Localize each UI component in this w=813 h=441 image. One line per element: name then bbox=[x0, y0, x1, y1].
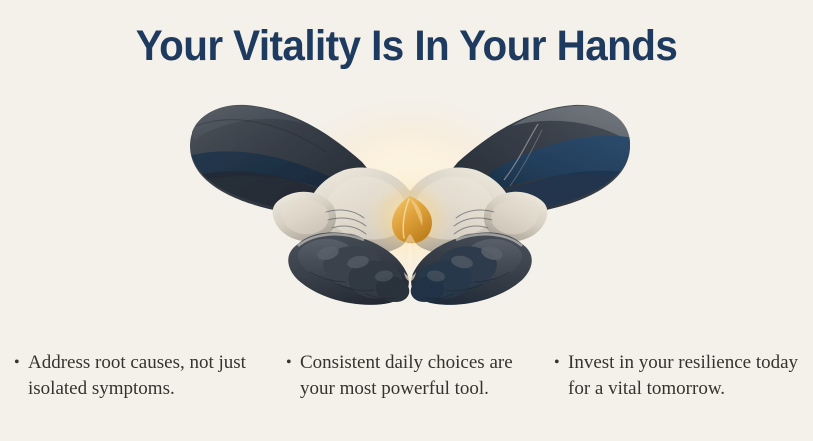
bullet-column-2: • Consistent daily choices are your most… bbox=[286, 350, 534, 401]
bullet-column-3: • Invest in your resilience today for a … bbox=[554, 350, 804, 401]
page-title: Your Vitality Is In Your Hands bbox=[24, 19, 788, 73]
bullet-marker-icon: • bbox=[14, 350, 28, 376]
slide-canvas: Your Vitality Is In Your Hands bbox=[0, 0, 813, 441]
bullet-text: Consistent daily choices are your most p… bbox=[300, 350, 534, 401]
bullet-column-1: • Address root causes, not just isolated… bbox=[14, 350, 262, 401]
bullet-text: Address root causes, not just isolated s… bbox=[28, 350, 262, 401]
list-item: • Address root causes, not just isolated… bbox=[14, 350, 262, 401]
hands-illustration bbox=[186, 96, 634, 326]
list-item: • Consistent daily choices are your most… bbox=[286, 350, 534, 401]
bullet-marker-icon: • bbox=[286, 350, 300, 376]
list-item: • Invest in your resilience today for a … bbox=[554, 350, 804, 401]
bullet-text: Invest in your resilience today for a vi… bbox=[568, 350, 804, 401]
bullet-marker-icon: • bbox=[554, 350, 568, 376]
